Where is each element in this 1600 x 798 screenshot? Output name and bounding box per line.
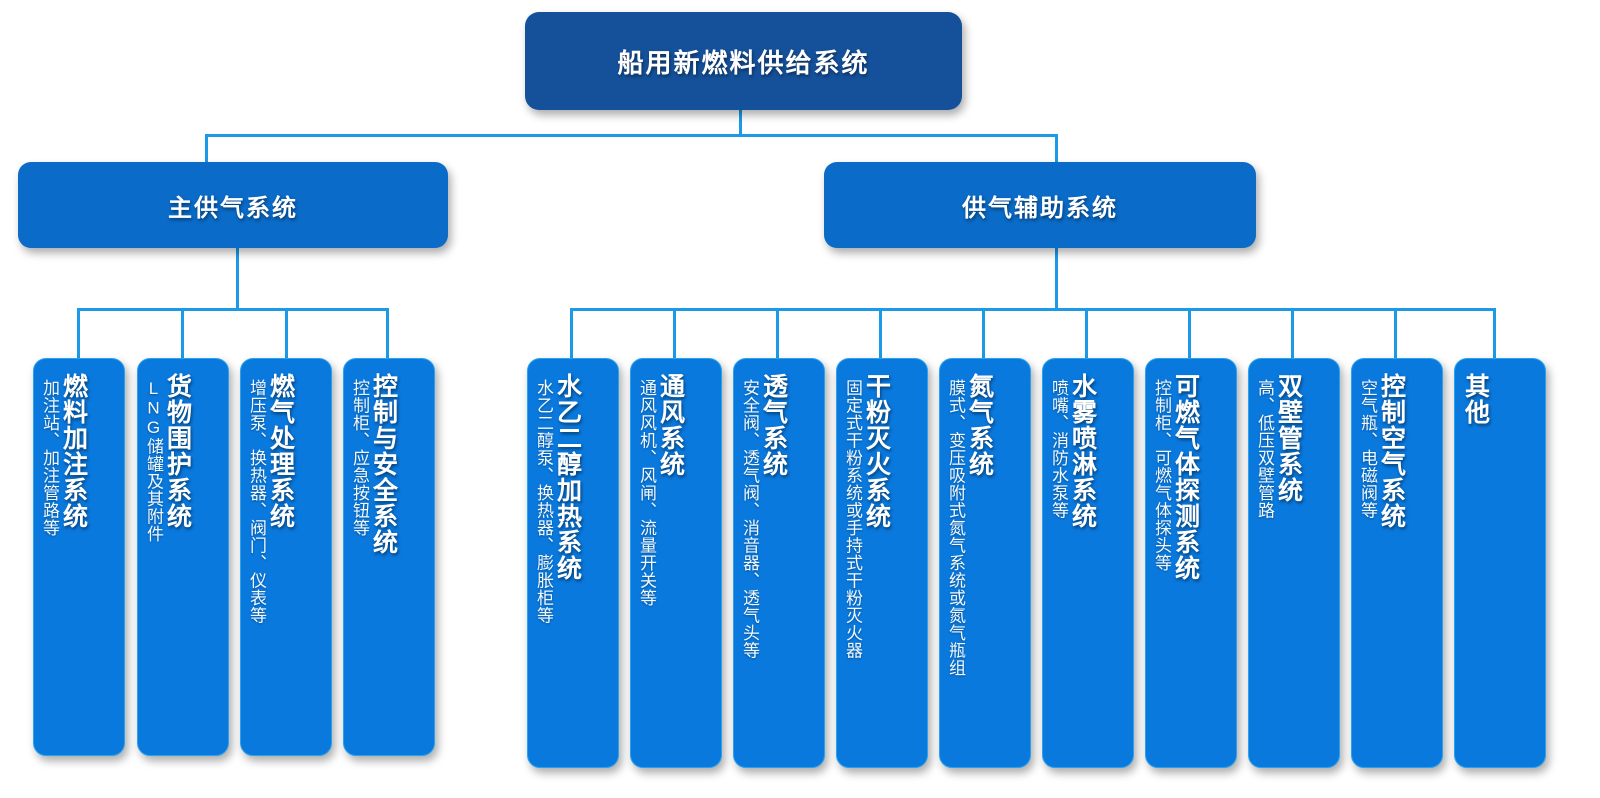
node-leaf-double-wall-pipe-system[interactable]: 双壁管系统 高、低压双壁管路 [1248,358,1340,768]
connector-branch-2-bus [570,308,1496,311]
connector-branch-2-stem [1055,248,1058,310]
node-leaf-others[interactable]: 其他 [1454,358,1546,768]
connector-branch-2-leaf-2 [673,308,676,360]
node-leaf-venting-system[interactable]: 透气系统 安全阀、透气阀、消音器、透气头等 [733,358,825,768]
leaf-content: 其他 [1455,373,1545,761]
connector-branch-2-leaf-10 [1493,308,1496,360]
connector-branch-1-leaf-2 [181,308,184,360]
leaf-title: 氮气系统 [966,373,992,477]
connector-branch-2-leaf-6 [1085,308,1088,360]
leaf-content: 氮气系统 膜式、变压吸附式氮气系统或氮气瓶组 [940,373,1030,761]
leaf-title: 控制与安全系统 [370,373,396,555]
leaf-subtitle: 固定式干粉系统或手持式干粉灭火器 [843,379,861,659]
leaf-subtitle: 控制柜、应急按钮等 [350,379,368,537]
connector-branch-2-leaf-9 [1394,308,1397,360]
leaf-content: 控制空气系统 空气瓶、电磁阀等 [1352,373,1442,761]
connector-branch-1-leaf-4 [386,308,389,360]
leaf-content: 干粉灭火系统 固定式干粉系统或手持式干粉灭火器 [837,373,927,761]
node-leaf-control-air-system[interactable]: 控制空气系统 空气瓶、电磁阀等 [1351,358,1443,768]
connector-branch-1-leaf-1 [77,308,80,360]
node-branch-label: 主供气系统 [168,188,298,223]
leaf-title: 透气系统 [760,373,786,477]
leaf-title: 控制空气系统 [1378,373,1404,529]
connector-branch-1-leaf-3 [285,308,288,360]
node-leaf-glycol-water-heating-system[interactable]: 水乙二醇加热系统 水乙二醇泵、换热器、膨胀柜等 [527,358,619,768]
leaf-content: 双壁管系统 高、低压双壁管路 [1249,373,1339,761]
leaf-subtitle: 控制柜、可燃气体探头等 [1152,379,1170,572]
node-branch-label: 供气辅助系统 [962,188,1118,223]
leaf-subtitle: 通风风机、风闸、流量开关等 [637,379,655,607]
connector-branch-2-leaf-4 [879,308,882,360]
leaf-content: 货物围护系统 LNG储罐及其附件 [138,373,228,749]
leaf-subtitle: 安全阀、透气阀、消音器、透气头等 [740,379,758,659]
connector-root-bus [205,134,1058,137]
node-leaf-dry-powder-fire-extinguishing-system[interactable]: 干粉灭火系统 固定式干粉系统或手持式干粉灭火器 [836,358,928,768]
node-branch-gas-supply-auxiliary[interactable]: 供气辅助系统 [824,162,1256,248]
connector-branch-1-bus [77,308,389,311]
node-root[interactable]: 船用新燃料供给系统 [525,12,962,110]
node-leaf-cargo-containment-system[interactable]: 货物围护系统 LNG储罐及其附件 [137,358,229,756]
leaf-content: 通风系统 通风风机、风闸、流量开关等 [631,373,721,761]
leaf-title: 货物围护系统 [164,373,190,529]
leaf-title: 双壁管系统 [1275,373,1301,503]
node-leaf-combustible-gas-detection-system[interactable]: 可燃气体探测系统 控制柜、可燃气体探头等 [1145,358,1237,768]
leaf-title: 可燃气体探测系统 [1172,373,1198,581]
connector-root-to-branch-2 [1055,134,1058,162]
leaf-subtitle: 加注站、加注管路等 [40,379,58,537]
leaf-content: 燃气处理系统 增压泵、换热器、阀门、仪表等 [241,373,331,749]
leaf-content: 透气系统 安全阀、透气阀、消音器、透气头等 [734,373,824,761]
node-leaf-gas-treatment-system[interactable]: 燃气处理系统 增压泵、换热器、阀门、仪表等 [240,358,332,756]
connector-branch-2-leaf-8 [1291,308,1294,360]
leaf-content: 水乙二醇加热系统 水乙二醇泵、换热器、膨胀柜等 [528,373,618,761]
leaf-content: 可燃气体探测系统 控制柜、可燃气体探头等 [1146,373,1236,761]
org-chart-canvas: 船用新燃料供给系统 主供气系统 供气辅助系统 燃料加注系统 加注站、加注管路等 … [0,0,1600,798]
node-branch-main-gas-supply[interactable]: 主供气系统 [18,162,448,248]
connector-root-stem [739,110,742,136]
leaf-title: 干粉灭火系统 [863,373,889,529]
leaf-subtitle: 高、低压双壁管路 [1255,379,1273,519]
leaf-subtitle: 膜式、变压吸附式氮气系统或氮气瓶组 [946,379,964,677]
leaf-subtitle: 增压泵、换热器、阀门、仪表等 [247,379,265,624]
node-leaf-control-and-safety-system[interactable]: 控制与安全系统 控制柜、应急按钮等 [343,358,435,756]
leaf-subtitle: 喷嘴、消防水泵等 [1049,379,1067,519]
node-leaf-nitrogen-system[interactable]: 氮气系统 膜式、变压吸附式氮气系统或氮气瓶组 [939,358,1031,768]
connector-branch-2-leaf-5 [982,308,985,360]
leaf-title: 水乙二醇加热系统 [554,373,580,581]
leaf-content: 水雾喷淋系统 喷嘴、消防水泵等 [1043,373,1133,761]
node-leaf-water-mist-spray-system[interactable]: 水雾喷淋系统 喷嘴、消防水泵等 [1042,358,1134,768]
leaf-subtitle: LNG储罐及其附件 [144,379,162,543]
node-root-label: 船用新燃料供给系统 [617,43,869,80]
leaf-title: 燃料加注系统 [60,373,86,529]
connector-branch-2-leaf-7 [1188,308,1191,360]
connector-branch-2-leaf-3 [776,308,779,360]
node-leaf-fuel-bunkering-system[interactable]: 燃料加注系统 加注站、加注管路等 [33,358,125,756]
leaf-title: 燃气处理系统 [267,373,293,529]
leaf-title: 水雾喷淋系统 [1069,373,1095,529]
leaf-subtitle: 空气瓶、电磁阀等 [1358,379,1376,519]
leaf-content: 控制与安全系统 控制柜、应急按钮等 [344,373,434,749]
connector-branch-2-leaf-1 [570,308,573,360]
leaf-subtitle: 水乙二醇泵、换热器、膨胀柜等 [534,379,552,624]
leaf-title: 通风系统 [657,373,683,477]
leaf-title: 其他 [1462,373,1488,425]
leaf-content: 燃料加注系统 加注站、加注管路等 [34,373,124,749]
node-leaf-ventilation-system[interactable]: 通风系统 通风风机、风闸、流量开关等 [630,358,722,768]
connector-branch-1-stem [236,248,239,310]
connector-root-to-branch-1 [205,134,208,162]
